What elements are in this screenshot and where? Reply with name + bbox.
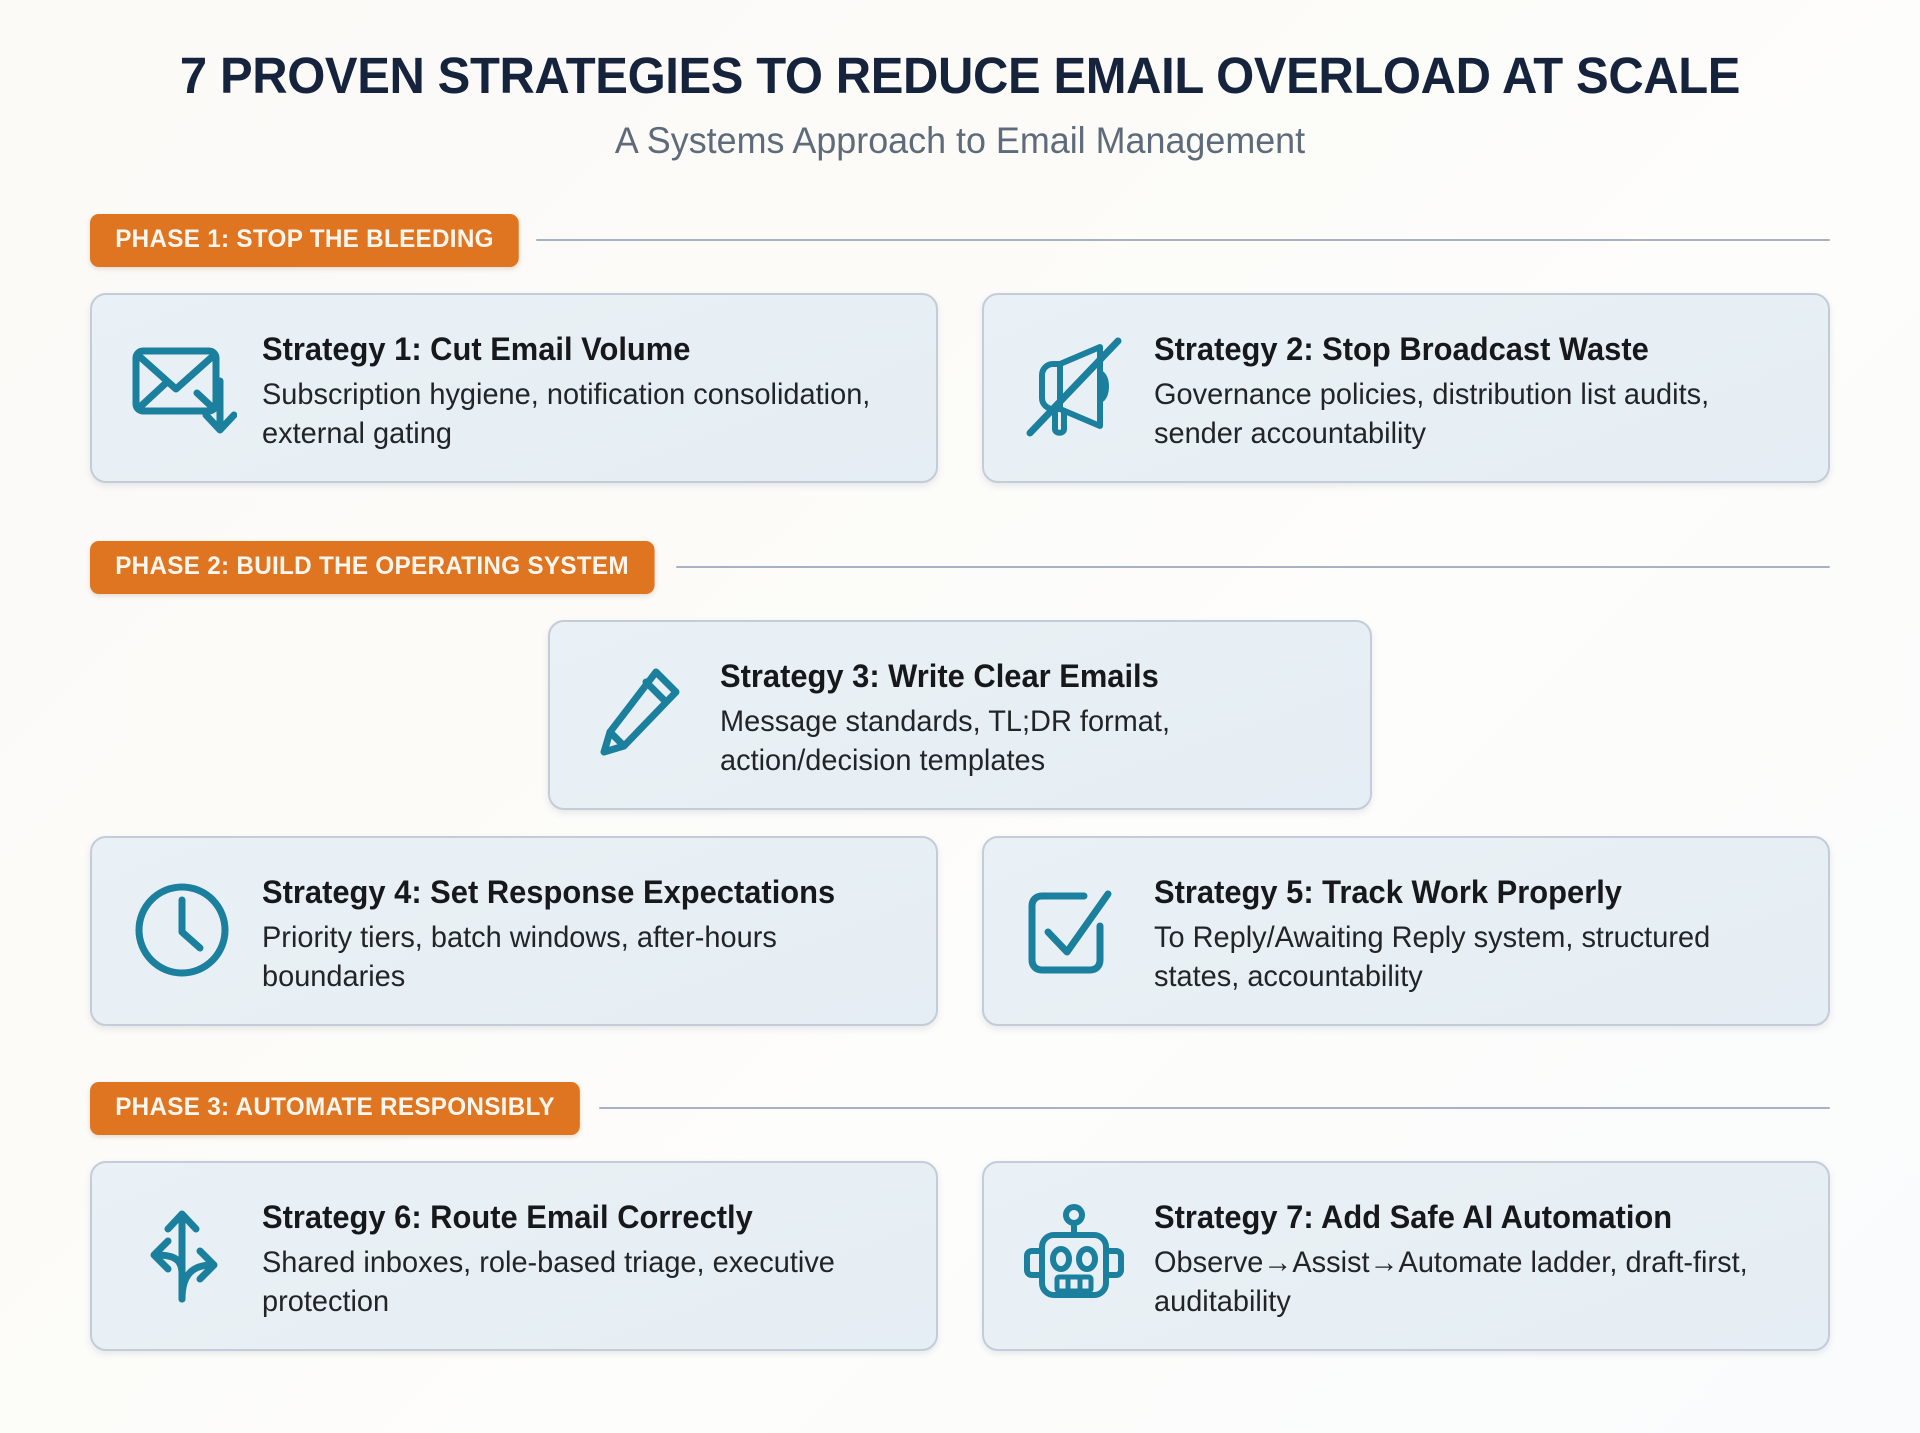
page-header: 7 PROVEN STRATEGIES TO REDUCE EMAIL OVER… — [0, 0, 1920, 162]
card-content-7: Strategy 7: Add Safe AI Automation Obser… — [1154, 1189, 1798, 1321]
phase-badge-1: PHASE 1: STOP THE BLEEDING — [90, 214, 519, 267]
card-row-phase2-top: Strategy 3: Write Clear Emails Message s… — [90, 620, 1830, 810]
phase-connector-line-1 — [536, 239, 1830, 241]
checkbox-check-icon — [1010, 864, 1138, 996]
card-title-3: Strategy 3: Write Clear Emails — [720, 658, 1318, 696]
strategy-card-7[interactable]: Strategy 7: Add Safe AI Automation Obser… — [982, 1161, 1830, 1351]
card-content-6: Strategy 6: Route Email Correctly Shared… — [262, 1189, 906, 1321]
route-arrows-icon — [118, 1189, 246, 1321]
phase-connector-line-3 — [599, 1107, 1830, 1109]
robot-icon — [1010, 1189, 1138, 1321]
page-subtitle: A Systems Approach to Email Management — [29, 121, 1891, 162]
card-desc-2: Governance policies, distribution list a… — [1154, 375, 1775, 453]
clock-icon — [118, 864, 246, 996]
card-content-4: Strategy 4: Set Response Expectations Pr… — [262, 864, 906, 996]
card-row-phase3: Strategy 6: Route Email Correctly Shared… — [90, 1161, 1830, 1351]
card-desc-4: Priority tiers, batch windows, after-hou… — [262, 918, 883, 996]
phase-header-1: PHASE 1: STOP THE BLEEDING — [90, 214, 1920, 267]
phase-section-2: PHASE 2: BUILD THE OPERATING SYSTEM Stra… — [0, 541, 1920, 1026]
megaphone-muted-icon — [1010, 321, 1138, 453]
card-content-3: Strategy 3: Write Clear Emails Message s… — [720, 648, 1340, 780]
strategy-card-3[interactable]: Strategy 3: Write Clear Emails Message s… — [548, 620, 1372, 810]
strategy-card-1[interactable]: Strategy 1: Cut Email Volume Subscriptio… — [90, 293, 938, 483]
phase-header-3: PHASE 3: AUTOMATE RESPONSIBLY — [90, 1082, 1920, 1135]
phase-section-1: PHASE 1: STOP THE BLEEDING Strategy 1 — [0, 214, 1920, 483]
phase-section-3: PHASE 3: AUTOMATE RESPONSIBLY Strateg — [0, 1082, 1920, 1351]
card-desc-7: Observe→Assist→Automate ladder, draft-fi… — [1154, 1243, 1775, 1321]
card-content-2: Strategy 2: Stop Broadcast Waste Governa… — [1154, 321, 1798, 453]
card-content-1: Strategy 1: Cut Email Volume Subscriptio… — [262, 321, 906, 453]
phase-header-2: PHASE 2: BUILD THE OPERATING SYSTEM — [90, 541, 1920, 594]
strategy-card-5[interactable]: Strategy 5: Track Work Properly To Reply… — [982, 836, 1830, 1026]
strategy-card-6[interactable]: Strategy 6: Route Email Correctly Shared… — [90, 1161, 938, 1351]
card-content-5: Strategy 5: Track Work Properly To Reply… — [1154, 864, 1798, 996]
strategy-card-2[interactable]: Strategy 2: Stop Broadcast Waste Governa… — [982, 293, 1830, 483]
card-title-5: Strategy 5: Track Work Properly — [1154, 874, 1775, 912]
phase-connector-line-2 — [676, 566, 1830, 568]
strategy-card-4[interactable]: Strategy 4: Set Response Expectations Pr… — [90, 836, 938, 1026]
card-desc-1: Subscription hygiene, notification conso… — [262, 375, 883, 453]
phase-badge-3: PHASE 3: AUTOMATE RESPONSIBLY — [90, 1082, 580, 1135]
card-row-phase2-bottom: Strategy 4: Set Response Expectations Pr… — [90, 836, 1830, 1026]
phase-badge-2: PHASE 2: BUILD THE OPERATING SYSTEM — [90, 541, 654, 594]
envelope-download-icon — [118, 321, 246, 453]
card-title-7: Strategy 7: Add Safe AI Automation — [1154, 1199, 1775, 1237]
page-title: 7 PROVEN STRATEGIES TO REDUCE EMAIL OVER… — [38, 48, 1881, 103]
card-title-2: Strategy 2: Stop Broadcast Waste — [1154, 331, 1775, 369]
infographic-page: 7 PROVEN STRATEGIES TO REDUCE EMAIL OVER… — [0, 0, 1920, 1433]
pencil-icon — [576, 648, 704, 780]
card-row-phase1: Strategy 1: Cut Email Volume Subscriptio… — [90, 293, 1830, 483]
card-title-1: Strategy 1: Cut Email Volume — [262, 331, 883, 369]
card-title-6: Strategy 6: Route Email Correctly — [262, 1199, 883, 1237]
card-desc-3: Message standards, TL;DR format, action/… — [720, 702, 1318, 780]
card-desc-6: Shared inboxes, role-based triage, execu… — [262, 1243, 883, 1321]
card-title-4: Strategy 4: Set Response Expectations — [262, 874, 883, 912]
card-desc-5: To Reply/Awaiting Reply system, structur… — [1154, 918, 1775, 996]
